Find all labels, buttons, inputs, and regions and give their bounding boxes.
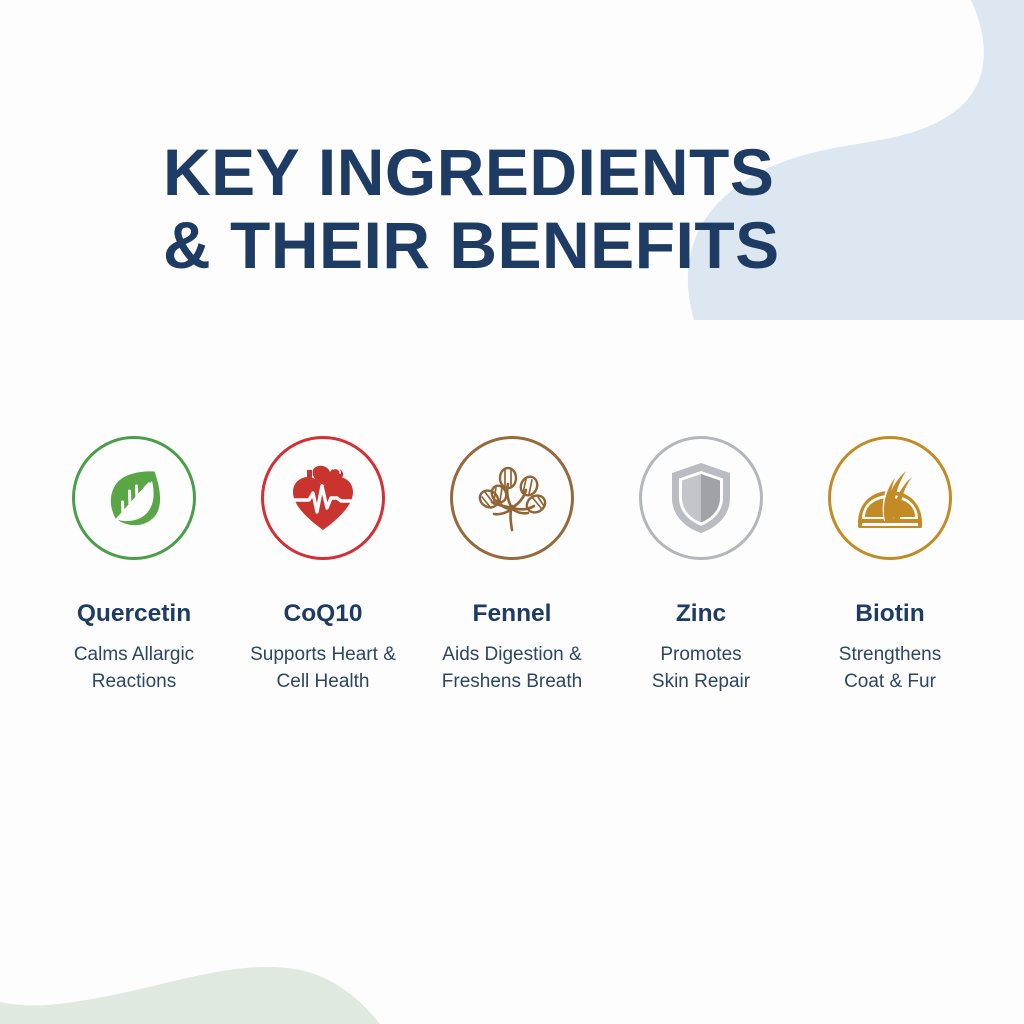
ingredient-description-line-1: Promotes — [652, 641, 750, 669]
ingredient-description-line-2: Cell Health — [250, 668, 396, 696]
icon-ring-biotin — [828, 436, 952, 560]
ingredient-card-fennel[interactable]: Fennel Aids Digestion & Freshens Breath — [418, 436, 606, 696]
ingredient-description: Aids Digestion & Freshens Breath — [442, 641, 582, 696]
page-title: KEY INGREDIENTS & THEIR BENEFITS — [163, 136, 903, 281]
fennel-seeds-icon — [472, 462, 552, 534]
ingredient-card-zinc[interactable]: Zinc Promotes Skin Repair — [607, 436, 795, 696]
infographic-canvas: KEY INGREDIENTS & THEIR BENEFITS Quercet… — [0, 0, 1024, 1024]
ingredient-name: Zinc — [676, 602, 726, 627]
ingredient-name: Fennel — [473, 602, 552, 627]
ingredient-card-biotin[interactable]: Biotin Strengthens Coat & Fur — [796, 436, 984, 696]
heart-ecg-icon — [285, 460, 361, 536]
ingredient-description-line-1: Strengthens — [839, 641, 941, 669]
ingredient-description-line-1: Calms Allargic — [74, 641, 194, 669]
decorative-blob-green — [0, 664, 430, 1024]
ingredient-description-line-2: Skin Repair — [652, 668, 750, 696]
ingredient-description: Strengthens Coat & Fur — [839, 641, 941, 696]
leaf-icon — [97, 461, 171, 535]
ingredient-description-line-2: Coat & Fur — [839, 668, 941, 696]
ingredient-description-line-1: Supports Heart & — [250, 641, 396, 669]
icon-ring-quercetin — [72, 436, 196, 560]
icon-ring-coq10 — [261, 436, 385, 560]
title-line-1: KEY INGREDIENTS — [163, 136, 903, 209]
ingredient-description: Supports Heart & Cell Health — [250, 641, 396, 696]
hair-follicle-icon — [850, 463, 930, 533]
ingredient-name: Quercetin — [77, 602, 191, 627]
icon-ring-zinc — [639, 436, 763, 560]
ingredient-card-coq10[interactable]: CoQ10 Supports Heart & Cell Health — [229, 436, 417, 696]
ingredient-description-line-2: Freshens Breath — [442, 668, 582, 696]
ingredient-card-quercetin[interactable]: Quercetin Calms Allargic Reactions — [40, 436, 228, 696]
ingredient-row: Quercetin Calms Allargic Reactions — [40, 436, 984, 696]
shield-icon — [668, 460, 734, 536]
ingredient-description: Calms Allargic Reactions — [74, 641, 194, 696]
icon-ring-fennel — [450, 436, 574, 560]
ingredient-description: Promotes Skin Repair — [652, 641, 750, 696]
ingredient-name: CoQ10 — [284, 602, 363, 627]
ingredient-description-line-1: Aids Digestion & — [442, 641, 582, 669]
title-line-2: & THEIR BENEFITS — [163, 209, 903, 282]
ingredient-name: Biotin — [855, 602, 924, 627]
ingredient-description-line-2: Reactions — [74, 668, 194, 696]
